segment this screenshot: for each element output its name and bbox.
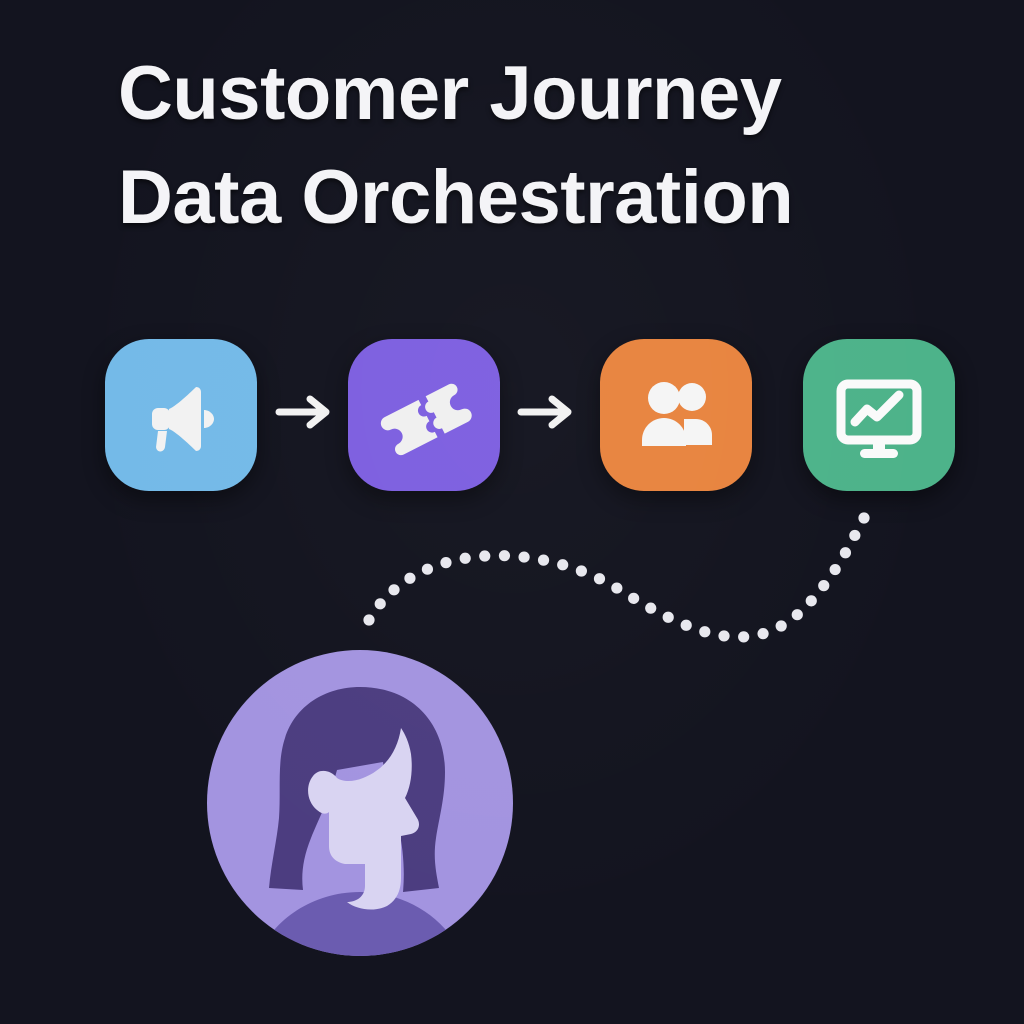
- connector-dot: [718, 630, 729, 641]
- connector-dot: [538, 555, 549, 566]
- connector-dot: [628, 593, 639, 604]
- connector-dot: [388, 584, 399, 595]
- pipeline-step-audience[interactable]: [600, 339, 752, 491]
- connector-dot: [645, 603, 656, 614]
- connector-dot: [557, 559, 568, 570]
- page-title: Customer Journey Data Orchestration: [118, 42, 978, 250]
- connector-dot: [363, 614, 374, 625]
- connector-dot: [818, 580, 829, 591]
- customer-avatar[interactable]: [207, 650, 513, 956]
- title-line-2: Data Orchestration: [118, 146, 978, 250]
- connector-dot: [840, 547, 851, 558]
- connector-dot: [422, 564, 433, 575]
- monitor-chart-icon: [829, 365, 929, 465]
- connector-dot: [479, 550, 490, 561]
- connector-dot: [460, 553, 471, 564]
- connector-dot: [440, 557, 451, 568]
- connector-dot: [699, 626, 710, 637]
- title-line-1: Customer Journey: [118, 42, 978, 146]
- connector-dot: [404, 573, 415, 584]
- connector-dot: [576, 565, 587, 576]
- connector-dot: [663, 612, 674, 623]
- connector-dot: [757, 628, 768, 639]
- connector-dot: [858, 512, 869, 523]
- pipeline-step-campaign[interactable]: [105, 339, 257, 491]
- connector-dot: [681, 620, 692, 631]
- connector-dot: [806, 595, 817, 606]
- connector-dot: [594, 573, 605, 584]
- connector-dot: [518, 551, 529, 562]
- people-icon: [628, 367, 724, 463]
- arrow-right-icon-2: [516, 392, 580, 432]
- poster-canvas: Customer Journey Data Orchestration: [0, 0, 1024, 1024]
- connector-dot: [499, 550, 510, 561]
- arrow-right-icon-1: [274, 392, 338, 432]
- pipeline-step-analytics[interactable]: [803, 339, 955, 491]
- pipeline-step-ticket[interactable]: [348, 339, 500, 491]
- connector-dot: [738, 631, 749, 642]
- megaphone-icon: [133, 367, 229, 463]
- connector-dot: [830, 564, 841, 575]
- connector-dot: [375, 598, 386, 609]
- ticket-icon: [374, 365, 474, 465]
- connector-dot: [611, 582, 622, 593]
- connector-dot: [849, 530, 860, 541]
- connector-dot: [792, 609, 803, 620]
- connector-dot: [776, 620, 787, 631]
